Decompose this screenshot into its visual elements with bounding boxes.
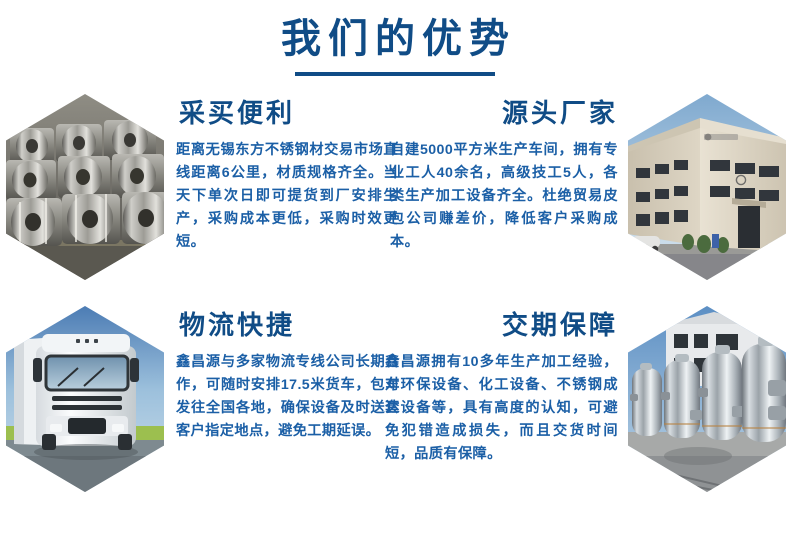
advantage-body: 距离无锡东方不锈钢材交易市场直线距离6公里，材质规格齐全。当天下单次日即可提货到…: [176, 139, 398, 254]
card-text-block: 物流快捷 鑫昌源与多家物流专线公司长期合作，可随时安排17.5米货车，包车发往全…: [164, 294, 408, 443]
advantage-heading: 交期保障: [385, 310, 618, 341]
stainless-tanks-photo: [628, 306, 786, 492]
hex-media-frame: [628, 306, 786, 492]
card-text-block: 采买便利 距离无锡东方不锈钢材交易市场直线距离6公里，材质规格齐全。当天下单次日…: [164, 82, 406, 254]
advantage-heading: 源头厂家: [390, 98, 618, 129]
advantage-card-source-factory: 源头厂家 自建5000平方米生产车间，拥有专业工人40余名，高级技工5人，各类生…: [395, 82, 790, 302]
advantage-body: 鑫昌源拥有10多年生产加工经验，对环保设备、化工设备、不锈钢成套设备等，具有高度…: [385, 351, 618, 466]
steel-coils-illustration: [6, 94, 164, 280]
page-header: 我们的优势: [0, 0, 790, 76]
advantage-heading: 采买便利: [176, 98, 398, 129]
factory-building-illustration: [628, 94, 786, 280]
advantages-grid: 采买便利 距离无锡东方不锈钢材交易市场直线距离6公里，材质规格齐全。当天下单次日…: [0, 82, 790, 522]
hex-media-frame: [6, 94, 164, 280]
advantage-heading: 物流快捷: [176, 310, 400, 341]
advantage-card-procurement-convenience: 采买便利 距离无锡东方不锈钢材交易市场直线距离6公里，材质规格齐全。当天下单次日…: [0, 82, 395, 302]
hex-media-frame: [6, 306, 164, 492]
advantage-card-delivery-guarantee: 交期保障 鑫昌源拥有10多年生产加工经验，对环保设备、化工设备、不锈钢成套设备等…: [395, 294, 790, 514]
stainless-tanks-illustration: [628, 306, 786, 492]
advantage-card-fast-logistics: 物流快捷 鑫昌源与多家物流专线公司长期合作，可随时安排17.5米货车，包车发往全…: [0, 294, 395, 514]
delivery-truck-illustration: [6, 306, 164, 492]
advantage-body: 自建5000平方米生产车间，拥有专业工人40余名，高级技工5人，各类生产加工设备…: [390, 139, 618, 254]
hex-media-frame: [628, 94, 786, 280]
steel-coils-photo: [6, 94, 164, 280]
delivery-truck-photo: [6, 306, 164, 492]
page-title: 我们的优势: [0, 16, 790, 62]
card-text-block: 源头厂家 自建5000平方米生产车间，拥有专业工人40余名，高级技工5人，各类生…: [382, 82, 628, 254]
card-text-block: 交期保障 鑫昌源拥有10多年生产加工经验，对环保设备、化工设备、不锈钢成套设备等…: [377, 294, 628, 466]
factory-building-photo: [628, 94, 786, 280]
title-underline-divider: [295, 72, 495, 76]
advantage-body: 鑫昌源与多家物流专线公司长期合作，可随时安排17.5米货车，包车发往全国各地，确…: [176, 351, 400, 443]
